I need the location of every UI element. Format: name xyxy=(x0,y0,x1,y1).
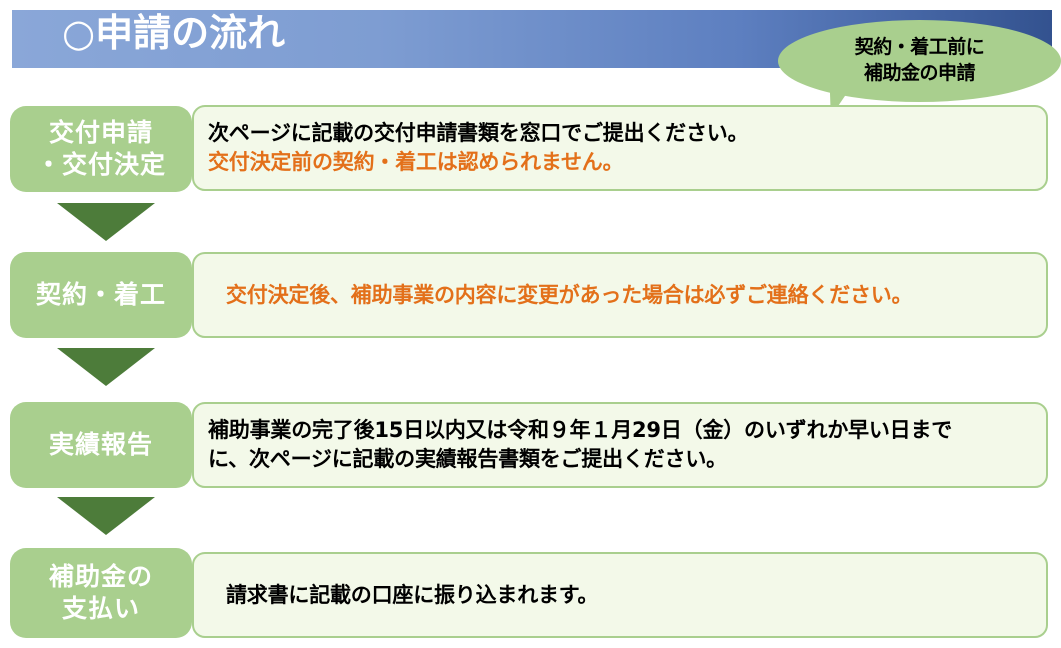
content-line: 補助事業の完了後15日以内又は令和９年１月29日（金）のいずれか早い日まで xyxy=(208,416,1046,445)
flow-arrow-2 xyxy=(57,348,155,386)
step-label-line-2: 支払い xyxy=(62,593,140,625)
step-label-line-1: 補助金の xyxy=(49,561,153,593)
content-line-accent: 交付決定後、補助事業の内容に変更があった場合は必ずご連絡ください。 xyxy=(208,281,1046,310)
step-content-report: 補助事業の完了後15日以内又は令和９年１月29日（金）のいずれか早い日まで に、… xyxy=(192,402,1048,488)
content-line: 次ページに記載の交付申請書類を窓口でご提出ください。 xyxy=(208,119,1046,148)
speech-bubble-line-2: 補助金の申請 xyxy=(864,61,975,87)
step-label-contract: 契約・着工 xyxy=(10,252,192,338)
speech-bubble-body: 契約・着工前に 補助金の申請 xyxy=(778,20,1061,102)
flow-arrow-3 xyxy=(57,497,155,535)
step-label-line-2: ・交付決定 xyxy=(36,149,166,181)
speech-bubble-line-1: 契約・着工前に xyxy=(855,35,985,61)
content-line: 請求書に記載の口座に振り込まれます。 xyxy=(208,581,1046,610)
step-label-application: 交付申請 ・交付決定 xyxy=(10,106,192,192)
step-content-application: 次ページに記載の交付申請書類を窓口でご提出ください。 交付決定前の契約・着工は認… xyxy=(192,105,1048,191)
step-label-report: 実績報告 xyxy=(10,402,192,488)
step-label-line-1: 契約・着工 xyxy=(36,279,166,311)
page-title: ○申請の流れ xyxy=(62,14,285,52)
content-line-accent: 交付決定前の契約・着工は認められません。 xyxy=(208,148,1046,177)
step-label-line-1: 交付申請 xyxy=(49,117,153,149)
step-label-line-1: 実績報告 xyxy=(49,429,153,461)
content-line: に、次ページに記載の実績報告書類をご提出ください。 xyxy=(208,445,1046,474)
flow-arrow-1 xyxy=(57,203,155,241)
step-content-payment: 請求書に記載の口座に振り込まれます。 xyxy=(192,552,1048,638)
step-label-payment: 補助金の 支払い xyxy=(10,548,192,638)
step-content-contract: 交付決定後、補助事業の内容に変更があった場合は必ずご連絡ください。 xyxy=(192,252,1048,338)
